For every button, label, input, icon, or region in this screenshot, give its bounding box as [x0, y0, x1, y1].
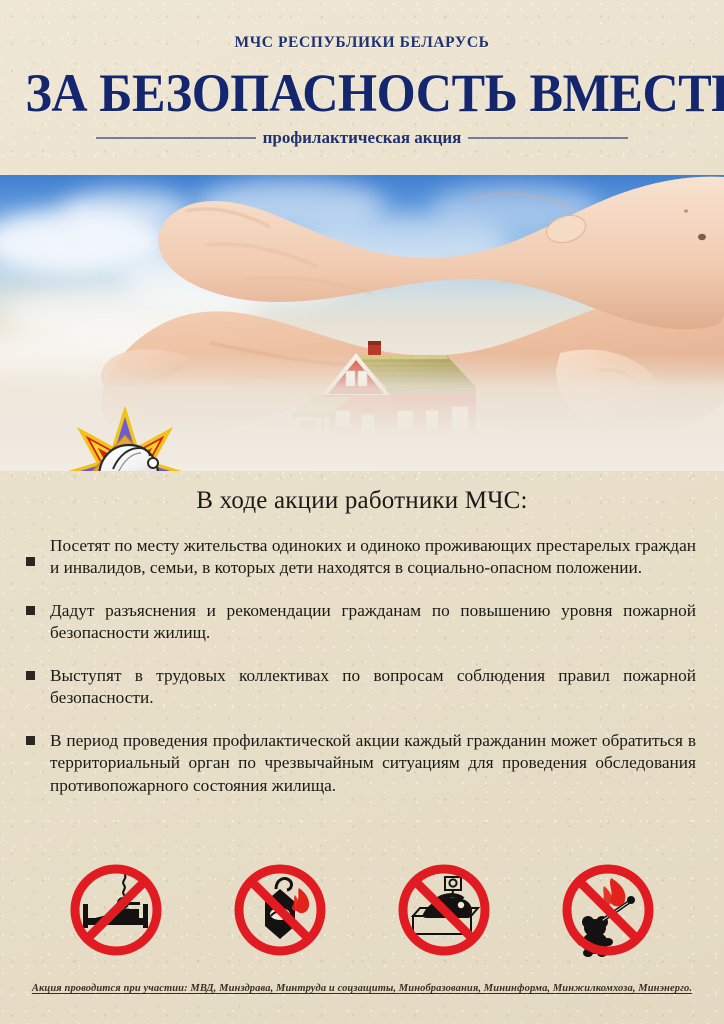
poster-footer: Акция проводится при участии: МВД, Минзд…: [0, 978, 724, 996]
bullet-text: Посетят по месту жительства одиноких и о…: [50, 535, 704, 580]
subtitle-text: профилактическая акция: [260, 128, 465, 148]
subtitle-rule-left: [96, 137, 256, 139]
bullet-text: Дадут разъяснения и рекомендации граждан…: [50, 600, 704, 645]
section-heading: В ходе акции работники МЧС:: [0, 487, 724, 515]
list-item: В период проведения профилактической акц…: [20, 730, 704, 797]
organization-line: МЧС РЕСПУБЛИКИ БЕЛАРУСЬ: [0, 34, 724, 52]
poster-header: МЧС РЕСПУБЛИКИ БЕЛАРУСЬ ЗА БЕЗОПАСНОСТЬ …: [0, 0, 724, 149]
bullet-marker-icon: [20, 600, 50, 615]
no-smoking-in-bed-icon: [61, 858, 171, 962]
bullet-marker-icon: [20, 535, 50, 566]
list-item: Выступят в трудовых коллективах по вопро…: [20, 665, 704, 710]
subtitle-rule-right: [468, 137, 628, 139]
bullet-text: В период проведения профилактической акц…: [50, 730, 704, 797]
page-title: ЗА БЕЗОПАСНОСТЬ ВМЕСТЕ!: [25, 66, 698, 121]
footer-note: Акция проводится при участии: МВД, Минзд…: [32, 983, 692, 994]
mchs-emblem-icon: [57, 407, 193, 471]
hero-photo: [0, 175, 724, 471]
subtitle-row: профилактическая акция: [0, 127, 724, 149]
upper-hand: [158, 177, 724, 330]
list-item: Посетят по месту жительства одиноких и о…: [20, 535, 704, 580]
no-unattended-iron-icon: [389, 858, 499, 962]
bullet-marker-icon: [20, 665, 50, 680]
bullet-list: Посетят по месту жительства одиноких и о…: [20, 535, 704, 817]
prohibition-icons-row: [0, 858, 724, 962]
no-children-with-matches-icon: [553, 858, 663, 962]
bullet-marker-icon: [20, 730, 50, 745]
list-item: Дадут разъяснения и рекомендации граждан…: [20, 600, 704, 645]
poster-root: МЧС РЕСПУБЛИКИ БЕЛАРУСЬ ЗА БЕЗОПАСНОСТЬ …: [0, 0, 724, 1024]
no-gas-cylinder-fire-icon: [225, 858, 335, 962]
bullet-text: Выступят в трудовых коллективах по вопро…: [50, 665, 704, 710]
